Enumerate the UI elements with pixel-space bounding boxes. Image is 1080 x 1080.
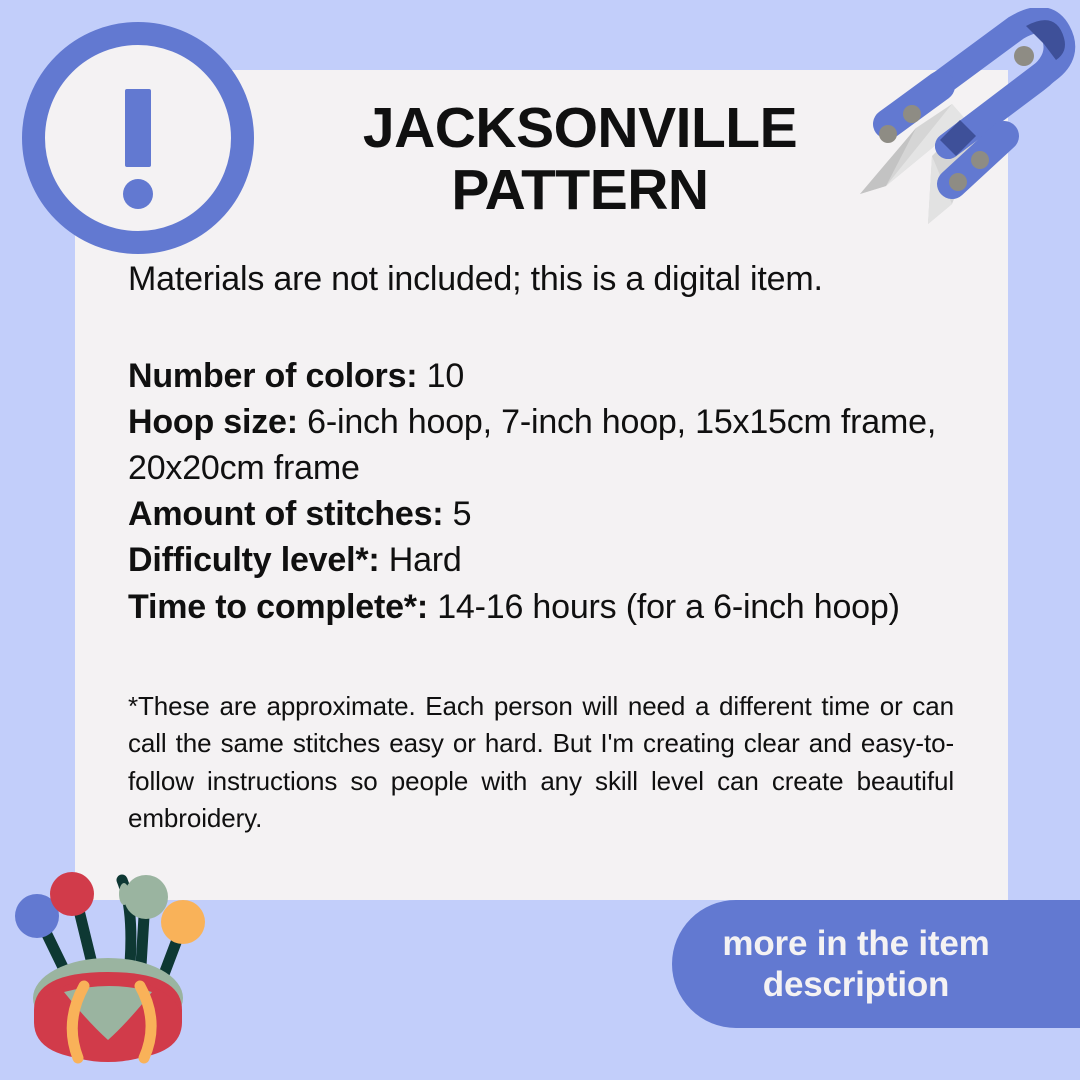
spec-value: 10 bbox=[427, 357, 464, 395]
pattern-details: Materials are not included; this is a di… bbox=[128, 258, 954, 838]
pin-head-orange bbox=[161, 900, 205, 944]
pin-head-sage bbox=[124, 875, 168, 919]
thread-snips-scissors-icon bbox=[820, 8, 1080, 273]
spec-value: 14-16 hours (for a 6-inch hoop) bbox=[437, 588, 900, 626]
spec-label: Number of colors: bbox=[128, 357, 417, 395]
spec-row-time: Time to complete*: 14-16 hours (for a 6-… bbox=[128, 584, 954, 630]
spec-row-hoop-size: Hoop size: 6-inch hoop, 7-inch hoop, 15x… bbox=[128, 399, 954, 491]
footnote-text: *These are approximate. Each person will… bbox=[128, 688, 954, 838]
spec-row-difficulty: Difficulty level*: Hard bbox=[128, 537, 954, 583]
pattern-info-card-canvas: JACKSONVILLE PATTERN Materials are not i… bbox=[0, 0, 1080, 1080]
spec-label: Amount of stitches: bbox=[128, 495, 443, 533]
tomato-pincushion-with-pins-icon bbox=[0, 862, 230, 1080]
spec-label: Difficulty level*: bbox=[128, 541, 379, 579]
spec-list: Number of colors: 10 Hoop size: 6-inch h… bbox=[128, 353, 954, 630]
spec-row-colors: Number of colors: 10 bbox=[128, 353, 954, 399]
pin-head-red bbox=[50, 872, 94, 916]
spec-row-stitches: Amount of stitches: 5 bbox=[128, 491, 954, 537]
spec-value: 5 bbox=[453, 495, 472, 533]
cta-line-1: more in the item bbox=[722, 923, 989, 964]
spec-value: Hard bbox=[389, 541, 462, 579]
exclamation-stem bbox=[125, 89, 151, 167]
spec-label: Time to complete*: bbox=[128, 588, 428, 626]
exclamation-dot bbox=[123, 179, 153, 209]
more-in-item-description-button[interactable]: more in the item description bbox=[672, 900, 1080, 1028]
cta-line-2: description bbox=[722, 964, 989, 1005]
spec-label: Hoop size: bbox=[128, 403, 298, 441]
exclamation-mark-icon bbox=[22, 22, 254, 254]
